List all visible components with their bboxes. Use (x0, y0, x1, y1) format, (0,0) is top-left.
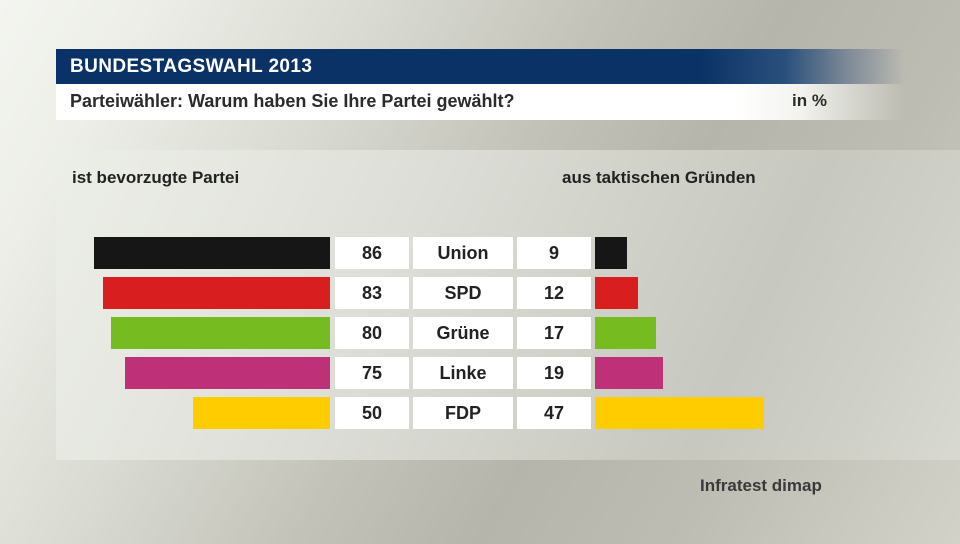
party-label: Grüne (413, 317, 513, 349)
chart-row: 80Grüne17 (56, 313, 960, 353)
bar-tactical-reasons (595, 397, 764, 429)
chart-rows: 86Union983SPD1280Grüne1775Linke1950FDP47 (56, 233, 960, 433)
value-left: 80 (335, 317, 409, 349)
bar-left-track (56, 357, 330, 389)
party-label: SPD (413, 277, 513, 309)
value-right: 17 (517, 317, 591, 349)
legend-left: ist bevorzugte Partei (72, 168, 239, 188)
bar-preferred-party (125, 357, 331, 389)
party-label: Linke (413, 357, 513, 389)
bar-left-track (56, 277, 330, 309)
bar-preferred-party (103, 277, 330, 309)
party-label: FDP (413, 397, 513, 429)
bar-right-track (595, 317, 955, 349)
unit-label: in % (792, 91, 827, 111)
bar-tactical-reasons (595, 357, 663, 389)
header-subtitle: Parteiwähler: Warum haben Sie Ihre Parte… (70, 91, 514, 112)
bar-right-track (595, 237, 955, 269)
chart-row: 86Union9 (56, 233, 960, 273)
bar-preferred-party (193, 397, 330, 429)
source-credit: Infratest dimap (700, 476, 822, 496)
chart-row: 50FDP47 (56, 393, 960, 433)
value-right: 47 (517, 397, 591, 429)
subtitle-band: Parteiwähler: Warum haben Sie Ihre Parte… (56, 84, 904, 120)
bar-right-track (595, 357, 955, 389)
chart-row: 83SPD12 (56, 273, 960, 313)
bar-left-track (56, 317, 330, 349)
bar-left-track (56, 237, 330, 269)
header-title: BUNDESTAGSWAHL 2013 (70, 56, 312, 78)
value-left: 83 (335, 277, 409, 309)
header-band: BUNDESTAGSWAHL 2013 (56, 49, 904, 84)
bar-tactical-reasons (595, 277, 638, 309)
legend-right: aus taktischen Gründen (562, 168, 756, 188)
value-right: 9 (517, 237, 591, 269)
infographic-canvas: BUNDESTAGSWAHL 2013 Parteiwähler: Warum … (0, 0, 960, 544)
chart-row: 75Linke19 (56, 353, 960, 393)
bar-right-track (595, 397, 955, 429)
value-left: 86 (335, 237, 409, 269)
value-right: 19 (517, 357, 591, 389)
bar-preferred-party (94, 237, 330, 269)
value-right: 12 (517, 277, 591, 309)
value-left: 75 (335, 357, 409, 389)
value-left: 50 (335, 397, 409, 429)
bar-preferred-party (111, 317, 330, 349)
bar-right-track (595, 277, 955, 309)
chart-panel: ist bevorzugte Partei aus taktischen Grü… (56, 150, 960, 460)
bar-tactical-reasons (595, 317, 656, 349)
bar-left-track (56, 397, 330, 429)
bar-tactical-reasons (595, 237, 627, 269)
party-label: Union (413, 237, 513, 269)
